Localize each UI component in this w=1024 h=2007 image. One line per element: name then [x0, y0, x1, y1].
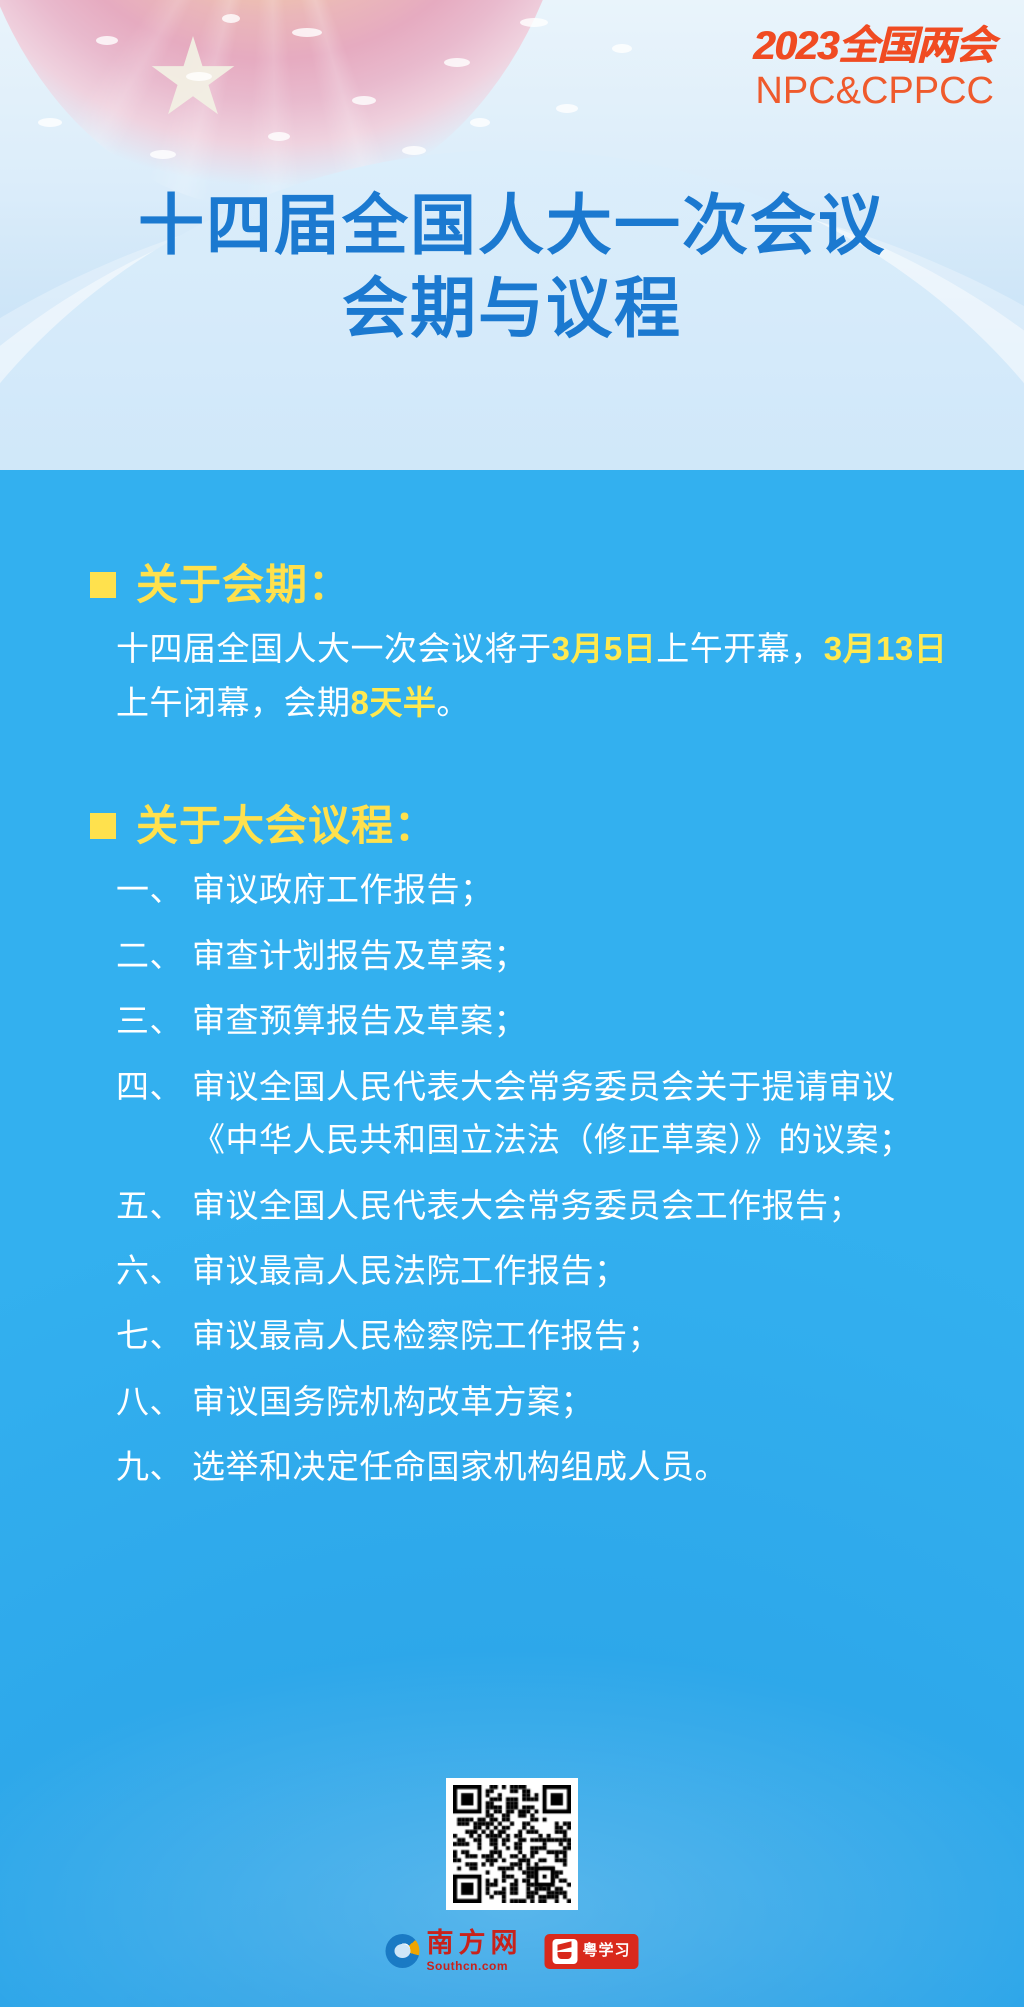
body-text: 十四届全国人大一次会议将于 — [116, 630, 552, 667]
body-text: 上午开幕， — [656, 630, 824, 667]
masthead-logo: 2023全国两会 NPC&CPPCC — [753, 26, 994, 110]
agenda-item: 四、审议全国人民代表大会常务委员会关于提请审议《中华人民共和国立法法（修正草案）… — [116, 1060, 962, 1167]
decorative-dot — [612, 44, 632, 53]
body-text: 上午闭幕，会期 — [116, 684, 351, 721]
section-meeting-period: 关于会期： 十四届全国人大一次会议将于3月5日上午开幕，3月13日上午闭幕，会期… — [0, 562, 1024, 729]
agenda-item-number: 六、 — [116, 1244, 192, 1297]
page-title: 十四届全国人大一次会议 会期与议程 — [0, 184, 1024, 350]
agenda-item-text: 选举和决定任命国家机构组成人员。 — [192, 1440, 962, 1493]
agenda-item: 一、审议政府工作报告； — [116, 863, 962, 916]
southcn-mark-icon — [385, 1934, 419, 1968]
agenda-item: 八、审议国务院机构改革方案； — [116, 1375, 962, 1428]
highlighted-text: 3月5日 — [552, 630, 657, 667]
agenda-item-text: 审议全国人民代表大会常务委员会工作报告； — [192, 1179, 962, 1232]
decorative-dot — [186, 72, 212, 81]
poster-root: 2023全国两会 NPC&CPPCC 十四届全国人大一次会议 会期与议程 关于会… — [0, 0, 1024, 2007]
agenda-item: 六、审议最高人民法院工作报告； — [116, 1244, 962, 1297]
content-area: 关于会期： 十四届全国人大一次会议将于3月5日上午开幕，3月13日上午闭幕，会期… — [0, 500, 1024, 1506]
decorative-dot — [520, 18, 548, 27]
agenda-item: 二、审查计划报告及草案； — [116, 929, 962, 982]
agenda-item-text: 审查计划报告及草案； — [192, 929, 962, 982]
agenda-item: 九、选举和决定任命国家机构组成人员。 — [116, 1440, 962, 1493]
decorative-dot — [402, 146, 426, 155]
body-text: 。 — [436, 684, 470, 721]
qr-code-image — [453, 1785, 571, 1903]
yuexuexi-mark-icon — [552, 1939, 577, 1964]
yuexuexi-label: 粤学习 — [582, 1943, 630, 1959]
decorative-dot — [150, 150, 176, 159]
agenda-item-text: 审议最高人民法院工作报告； — [192, 1244, 962, 1297]
agenda-item-number: 二、 — [116, 929, 192, 982]
yuexuexi-logo[interactable]: 粤学习 — [544, 1934, 638, 1969]
agenda-item-text: 审议最高人民检察院工作报告； — [192, 1309, 962, 1362]
southcn-name-cn: 南方网 — [426, 1930, 522, 1957]
decorative-dot — [222, 14, 240, 23]
southcn-name-en: Southcn.com — [426, 1960, 522, 1972]
section-title-agenda: 关于大会议程： — [136, 803, 437, 849]
agenda-item-text: 审议全国人民代表大会常务委员会关于提请审议《中华人民共和国立法法（修正草案）》的… — [192, 1060, 962, 1167]
page-title-line-2: 会期与议程 — [0, 267, 1024, 350]
agenda-item-number: 三、 — [116, 994, 192, 1047]
decorative-dot — [556, 104, 578, 113]
decorative-dot — [38, 118, 62, 127]
agenda-item-number: 一、 — [116, 863, 192, 916]
decorative-dot — [470, 118, 490, 127]
masthead-year-cn: 2023全国两会 — [753, 26, 994, 66]
footer-logos: 南方网 Southcn.com 粤学习 — [385, 1930, 638, 1972]
section-agenda: 关于大会议程： 一、审议政府工作报告；二、审查计划报告及草案；三、审查预算报告及… — [0, 803, 1024, 1494]
decorative-dot — [268, 132, 290, 141]
agenda-item-number: 七、 — [116, 1309, 192, 1362]
agenda-item-number: 八、 — [116, 1375, 192, 1428]
decorative-dot — [292, 28, 322, 37]
agenda-item: 七、审议最高人民检察院工作报告； — [116, 1309, 962, 1362]
qr-code[interactable] — [446, 1778, 578, 1910]
agenda-item-number: 九、 — [116, 1440, 192, 1493]
masthead-english: NPC&CPPCC — [753, 72, 994, 110]
agenda-list: 一、审议政府工作报告；二、审查计划报告及草案；三、审查预算报告及草案；四、审议全… — [116, 863, 962, 1494]
section-heading-row: 关于会期： — [90, 562, 962, 608]
agenda-item-text: 审议国务院机构改革方案； — [192, 1375, 962, 1428]
page-title-line-1: 十四届全国人大一次会议 — [0, 184, 1024, 267]
southcn-logo[interactable]: 南方网 Southcn.com — [385, 1930, 522, 1972]
decorative-dot — [352, 96, 376, 105]
highlighted-text: 8天半 — [351, 684, 437, 721]
agenda-item-number: 四、 — [116, 1060, 192, 1167]
highlighted-text: 3月13日 — [824, 630, 948, 667]
section-title-meeting-period: 关于会期： — [136, 562, 351, 608]
agenda-item: 五、审议全国人民代表大会常务委员会工作报告； — [116, 1179, 962, 1232]
agenda-item: 三、审查预算报告及草案； — [116, 994, 962, 1047]
square-bullet-icon — [90, 572, 116, 598]
section-body-meeting-period: 十四届全国人大一次会议将于3月5日上午开幕，3月13日上午闭幕，会期8天半。 — [116, 622, 962, 729]
decorative-dot — [96, 36, 118, 45]
agenda-item-text: 审议政府工作报告； — [192, 863, 962, 916]
square-bullet-icon — [90, 813, 116, 839]
agenda-item-text: 审查预算报告及草案； — [192, 994, 962, 1047]
decorative-dot — [444, 58, 470, 67]
agenda-item-number: 五、 — [116, 1179, 192, 1232]
section-heading-row: 关于大会议程： — [90, 803, 962, 849]
